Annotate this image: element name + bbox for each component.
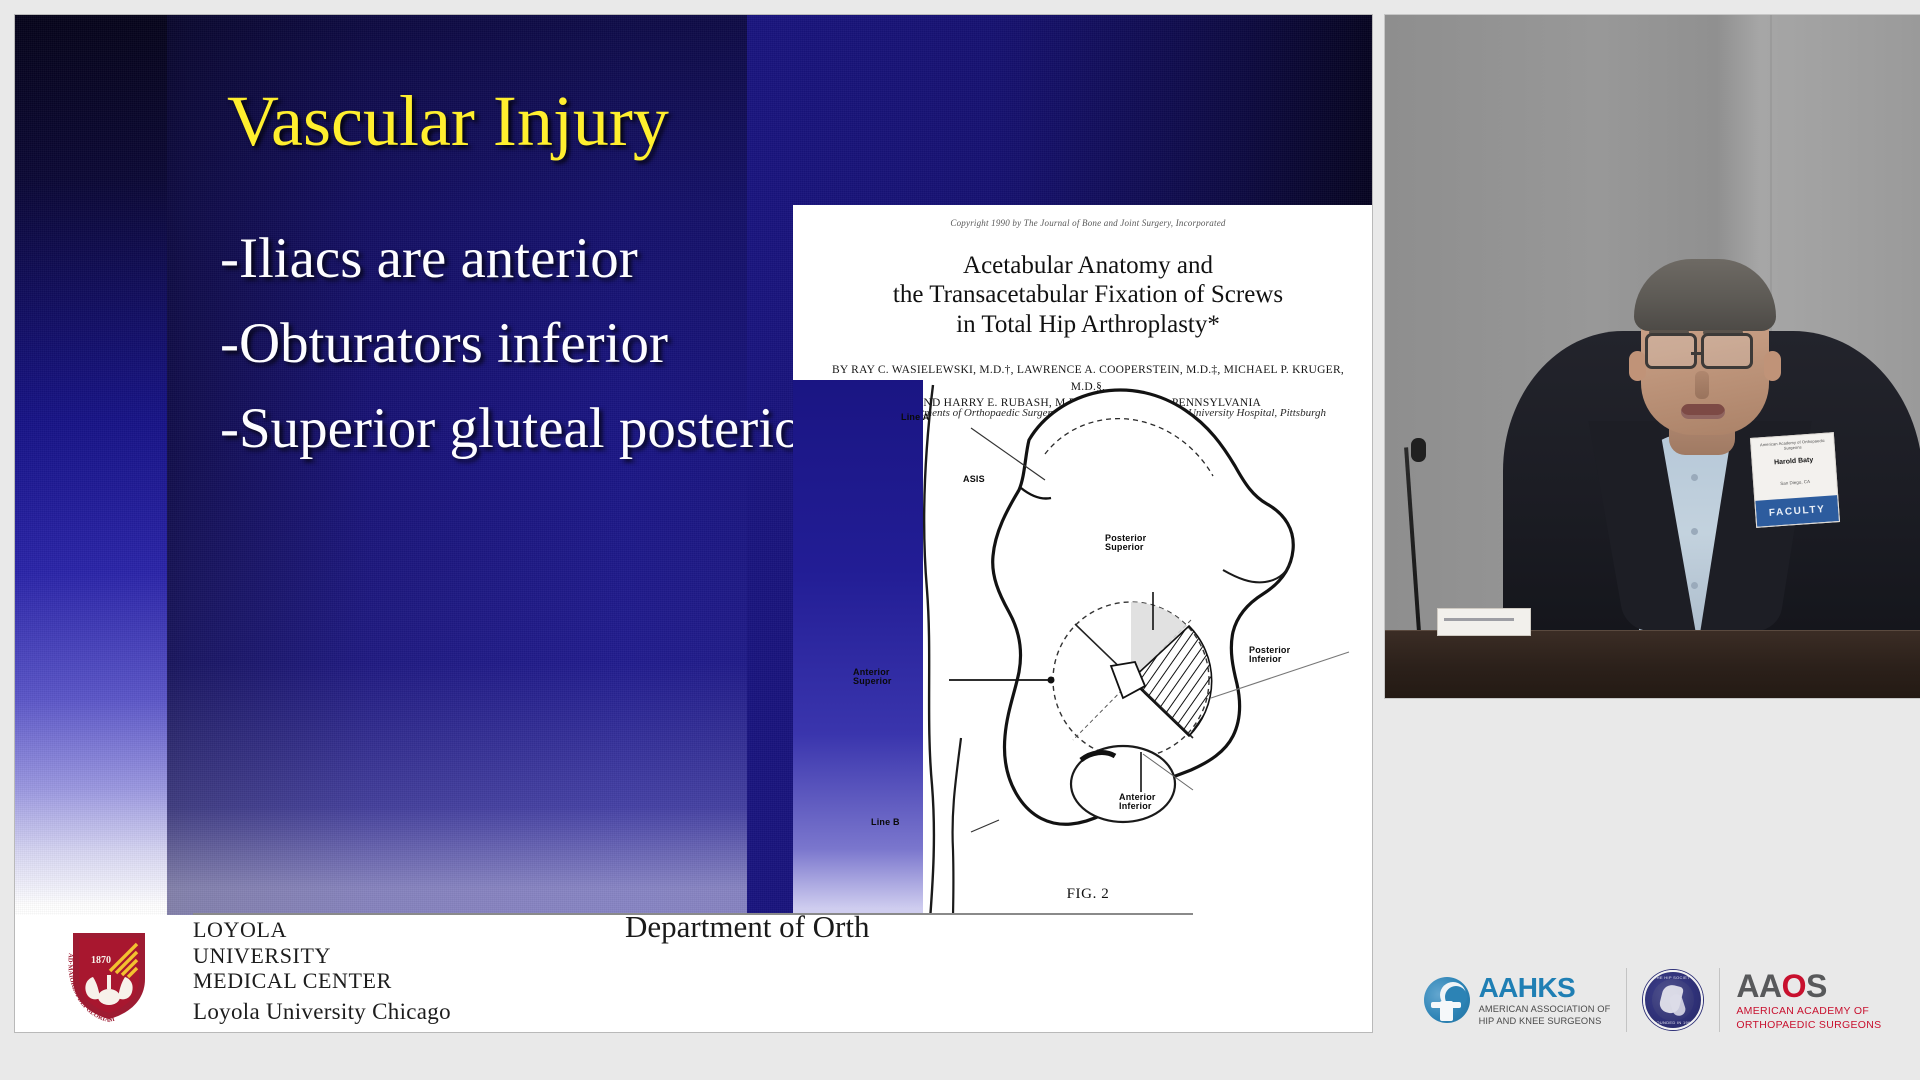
aaos-name-part-3: S [1806, 968, 1827, 1004]
podium-name-card [1437, 608, 1531, 636]
figure-label-anterior-inferior: Anterior Inferior [1119, 793, 1156, 812]
speaker-hair [1634, 259, 1776, 331]
slide-bullet-2: -Obturators inferior [220, 315, 668, 372]
badge-org-line: American Academy of Orthopaedic Surgeons [1751, 437, 1833, 453]
aaos-subtitle-1: AMERICAN ACADEMY OF [1736, 1006, 1881, 1017]
aahks-logo: AAHKS AMERICAN ASSOCIATION OF HIP AND KN… [1424, 974, 1611, 1027]
speaker-ear-left [1629, 351, 1646, 381]
paper-copyright-line: Copyright 1990 by The Journal of Bone an… [793, 218, 1372, 228]
aaos-logo: AAOS AMERICAN ACADEMY OF ORTHOPAEDIC SUR… [1736, 970, 1881, 1031]
aahks-icon-stem [1440, 1001, 1453, 1021]
aaos-name-part-2: O [1782, 968, 1806, 1004]
eyeglasses-bridge [1691, 352, 1703, 355]
sponsor-logo-bar: AAHKS AMERICAN ASSOCIATION OF HIP AND KN… [1385, 940, 1920, 1060]
paper-title: Acetabular Anatomy and the Transacetabul… [793, 251, 1372, 339]
slide-footer: 1870 AD·MAIOREM·DEI·GLORIAM LOYOLA UNIVE… [15, 915, 1372, 1032]
journal-paper-scan: Copyright 1990 by The Journal of Bone an… [793, 205, 1372, 925]
hip-society-top-text: THE HIP SOCIETY [1645, 975, 1701, 980]
aaos-name-part-1: AA [1736, 968, 1781, 1004]
slide-bullet-1: -Iliacs are anterior [220, 230, 638, 287]
speaker-nose [1695, 371, 1709, 399]
eyeglasses-lens-left [1645, 333, 1697, 369]
slide-bullet-3: -Superior gluteal posterior [220, 400, 822, 457]
badge-role-band: FACULTY [1755, 495, 1839, 527]
hip-society-logo: THE HIP SOCIETY FOUNDED IN 1968 [1643, 970, 1703, 1030]
paper-title-line-3: in Total Hip Arthroplasty* [793, 310, 1372, 339]
loyola-wordmark: LOYOLA UNIVERSITY MEDICAL CENTER [193, 917, 392, 994]
loyola-line-1: LOYOLA [193, 917, 392, 943]
aahks-subtitle-2: HIP AND KNEE SURGEONS [1479, 1017, 1611, 1026]
speaker-ear-right [1764, 351, 1781, 381]
presentation-slide: Vascular Injury -Iliacs are anterior -Ob… [15, 15, 1372, 1032]
figure-label-asis: ASIS [963, 475, 985, 484]
figure-label-posterior-inferior: Posterior Inferior [1249, 646, 1290, 665]
shirt-button [1691, 528, 1698, 535]
speaker-video-feed[interactable]: American Academy of Orthopaedic Surgeons… [1385, 15, 1920, 698]
aaos-name: AAOS [1736, 970, 1881, 1002]
eyeglasses-lens-right [1701, 333, 1753, 369]
logo-divider [1626, 968, 1627, 1032]
slide-title: Vascular Injury [227, 85, 669, 157]
paper-title-line-2: the Transacetabular Fixation of Screws [793, 280, 1372, 309]
hip-society-bottom-text: FOUNDED IN 1968 [1645, 1020, 1701, 1025]
loyola-line-3: MEDICAL CENTER [193, 968, 392, 994]
loyola-crest-svg: 1870 AD·MAIOREM·DEI·GLORIAM [63, 927, 155, 1023]
loyola-subtitle: Loyola University Chicago [193, 999, 451, 1025]
faculty-name-badge: American Academy of Orthopaedic Surgeons… [1750, 432, 1840, 528]
svg-text:1870: 1870 [91, 955, 111, 966]
lectern-podium [1385, 630, 1920, 698]
aahks-name: AAHKS [1479, 974, 1611, 1002]
aahks-subtitle-1: AMERICAN ASSOCIATION OF [1479, 1005, 1611, 1014]
aahks-text-block: AAHKS AMERICAN ASSOCIATION OF HIP AND KN… [1479, 974, 1611, 1027]
pelvis-figure: Line A ASIS Posterior Superior Anterior … [793, 380, 1372, 925]
paper-title-line-1: Acetabular Anatomy and [793, 251, 1372, 280]
figure-label-anterior-superior: Anterior Superior [853, 668, 892, 687]
badge-attendee-name: Harold Baty [1753, 455, 1835, 469]
badge-attendee-city: San Diego, CA [1754, 477, 1836, 488]
figure-caption: FIG. 2 [793, 886, 1372, 903]
aaos-subtitle-2: ORTHOPAEDIC SURGEONS [1736, 1020, 1881, 1031]
figure-label-line-b: Line B [871, 818, 900, 827]
aahks-hip-icon [1424, 977, 1470, 1023]
loyola-crest-logo: 1870 AD·MAIOREM·DEI·GLORIAM [63, 927, 155, 1023]
figure-label-line-a: Line A [901, 413, 929, 422]
slide-left-gradient-strip [15, 15, 167, 915]
shirt-button [1691, 474, 1698, 481]
department-label: Department of Orth [625, 909, 869, 945]
speaker-mouth [1681, 404, 1725, 419]
speaker-figure: American Academy of Orthopaedic Surgeons… [1503, 141, 1920, 631]
loyola-line-2: UNIVERSITY [193, 943, 392, 969]
shirt-button [1691, 582, 1698, 589]
logo-divider [1719, 968, 1720, 1032]
podium-name-card-text [1444, 618, 1514, 621]
microphone-icon [1411, 438, 1426, 462]
figure-label-posterior-superior: Posterior Superior [1105, 534, 1146, 553]
